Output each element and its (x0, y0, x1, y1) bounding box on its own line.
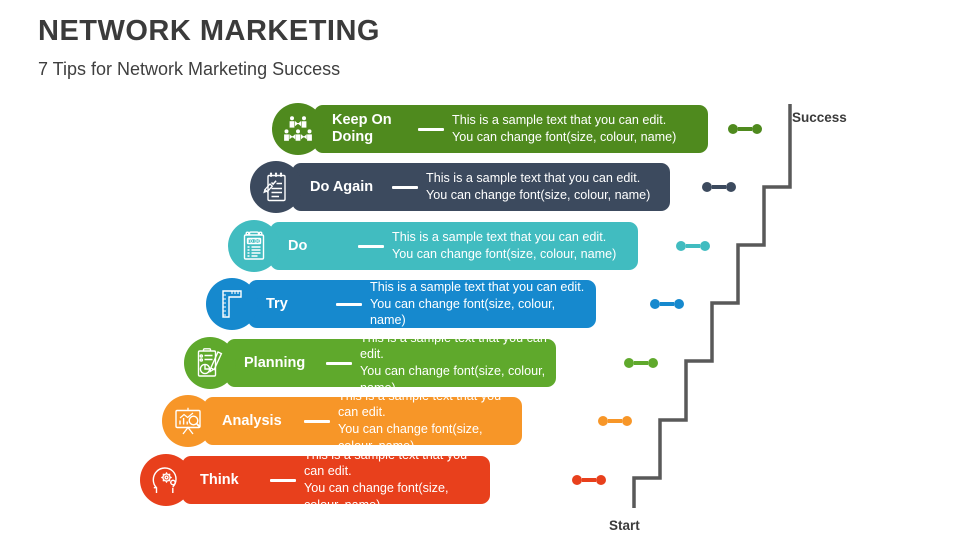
connector-stem (582, 478, 596, 482)
connector-dot-left (650, 299, 660, 309)
connector-dot-right (648, 358, 658, 368)
step-bar[interactable]: Keep On DoingThis is a sample text that … (314, 105, 708, 153)
step-dash-divider (392, 186, 418, 189)
step-connector (572, 474, 606, 486)
connector-stem (634, 361, 648, 365)
step-label: Think (200, 472, 262, 489)
step-connector (598, 415, 632, 427)
step-bar[interactable]: TryThis is a sample text that you can ed… (248, 280, 596, 328)
page-title: NETWORK MARKETING (38, 14, 380, 49)
connector-stem (712, 185, 726, 189)
step-description: This is a sample text that you can edit.… (360, 330, 550, 396)
step-dash-divider (418, 128, 444, 131)
step-label: Do (288, 238, 350, 255)
step-row[interactable]: PlanningThis is a sample text that you c… (184, 337, 556, 389)
connector-stem (738, 127, 752, 131)
step-description: This is a sample text that you can edit.… (392, 229, 632, 262)
connector-stem (660, 302, 674, 306)
start-label: Start (609, 518, 640, 533)
step-bar[interactable]: Do AgainThis is a sample text that you c… (292, 163, 670, 211)
connector-dot-left (702, 182, 712, 192)
step-dash-divider (336, 303, 362, 306)
step-bar[interactable]: PlanningThis is a sample text that you c… (226, 339, 556, 387)
connector-dot-right (596, 475, 606, 485)
connector-dot-right (726, 182, 736, 192)
connector-dot-left (676, 241, 686, 251)
step-dash-divider (358, 245, 384, 248)
ruler-icon (206, 278, 258, 330)
step-description: This is a sample text that you can edit.… (370, 279, 590, 329)
step-label: Do Again (310, 179, 384, 196)
step-row[interactable]: AnalysisThis is a sample text that you c… (162, 395, 522, 447)
connector-stem (608, 419, 622, 423)
connector-dot-right (700, 241, 710, 251)
connector-dot-right (752, 124, 762, 134)
step-bar[interactable]: DoThis is a sample text that you can edi… (270, 222, 638, 270)
connector-dot-right (674, 299, 684, 309)
svg-text:TO DO: TO DO (247, 239, 261, 244)
step-connector (728, 123, 762, 135)
success-label: Success (792, 110, 847, 125)
head-gears-icon (140, 454, 192, 506)
step-row[interactable]: Do AgainThis is a sample text that you c… (250, 161, 670, 213)
step-connector (650, 298, 684, 310)
connector-dot-left (572, 475, 582, 485)
step-label: Try (266, 296, 328, 313)
todo-clipboard-icon: TO DO (228, 220, 280, 272)
step-row[interactable]: Keep On DoingThis is a sample text that … (272, 103, 708, 155)
connector-dot-left (624, 358, 634, 368)
planning-clipboard-pen-icon (184, 337, 236, 389)
page-subtitle: 7 Tips for Network Marketing Success (38, 59, 380, 81)
step-dash-divider (326, 362, 352, 365)
step-row[interactable]: TryThis is a sample text that you can ed… (206, 278, 596, 330)
people-network-icon (272, 103, 324, 155)
step-bar[interactable]: ThinkThis is a sample text that you can … (182, 456, 490, 504)
step-connector (676, 240, 710, 252)
checklist-pen-icon (250, 161, 302, 213)
step-dash-divider (304, 420, 330, 423)
connector-dot-right (622, 416, 632, 426)
step-dash-divider (270, 479, 296, 482)
step-label: Analysis (222, 413, 296, 430)
step-row[interactable]: ThinkThis is a sample text that you can … (140, 454, 490, 506)
step-connector (624, 357, 658, 369)
step-description: This is a sample text that you can edit.… (338, 388, 516, 454)
chart-magnifier-icon (162, 395, 214, 447)
step-row[interactable]: TO DO DoThis is a sample text that you c… (228, 220, 638, 272)
step-connector (702, 181, 736, 193)
step-label: Planning (244, 355, 318, 372)
step-description: This is a sample text that you can edit.… (304, 447, 484, 513)
header: NETWORK MARKETING 7 Tips for Network Mar… (38, 14, 380, 80)
connector-stem (686, 244, 700, 248)
step-bar[interactable]: AnalysisThis is a sample text that you c… (204, 397, 522, 445)
connector-dot-left (598, 416, 608, 426)
step-description: This is a sample text that you can edit.… (452, 112, 702, 145)
step-description: This is a sample text that you can edit.… (426, 170, 664, 203)
step-label: Keep On Doing (332, 112, 410, 145)
connector-dot-left (728, 124, 738, 134)
